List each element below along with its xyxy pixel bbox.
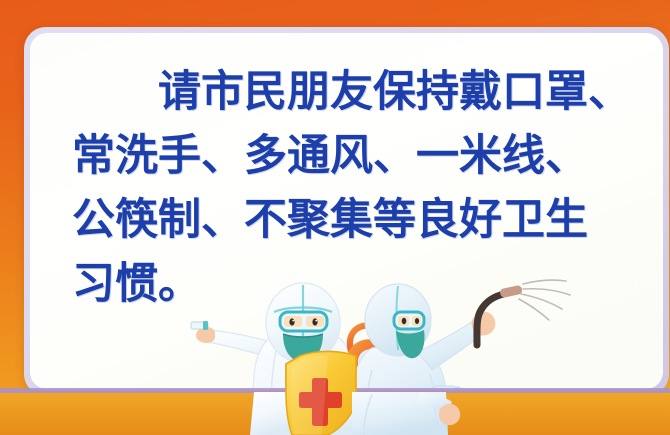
notice-text-line-2: 常洗手、多通风、一米线、 — [72, 125, 632, 189]
notice-card-border: 请市民朋友保持戴口罩、 常洗手、多通风、一米线、 公筷制、不聚集等良好卫生 习惯… — [24, 27, 669, 396]
notice-text-line-3: 公筷制、不聚集等良好卫生 — [72, 189, 632, 253]
notice-card: 请市民朋友保持戴口罩、 常洗手、多通风、一米线、 公筷制、不聚集等良好卫生 习惯… — [30, 33, 663, 389]
notice-text-line-1: 请市民朋友保持戴口罩、 — [72, 61, 632, 125]
notice-text-block: 请市民朋友保持戴口罩、 常洗手、多通风、一米线、 公筷制、不聚集等良好卫生 习惯… — [72, 61, 632, 317]
poster-root: 请市民朋友保持戴口罩、 常洗手、多通风、一米线、 公筷制、不聚集等良好卫生 习惯… — [0, 0, 670, 435]
notice-text-line-4: 习惯。 — [72, 253, 632, 317]
